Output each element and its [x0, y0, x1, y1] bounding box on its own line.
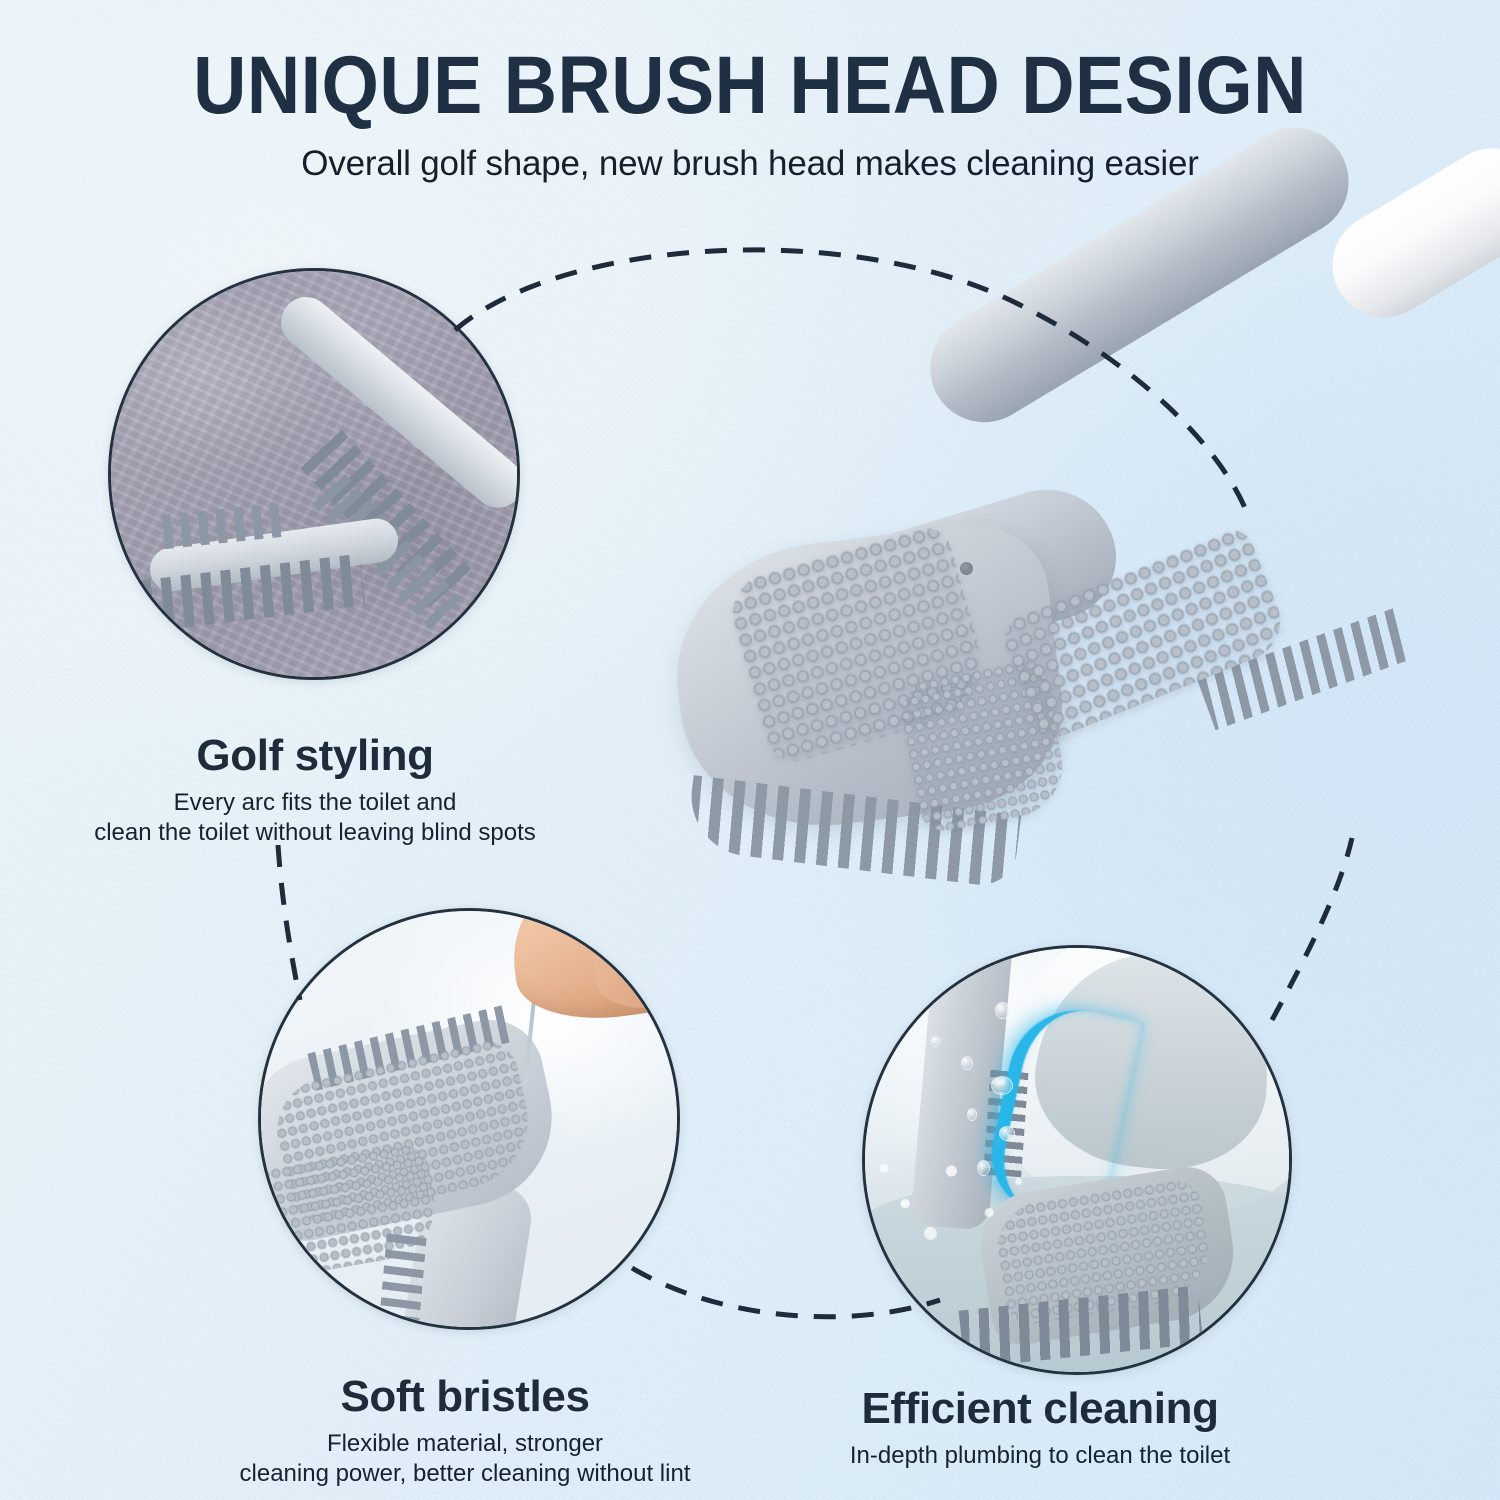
inset-efficient-cleaning — [862, 945, 1292, 1375]
golf-styling-brush — [111, 271, 517, 677]
feature-caption-soft-bristles: Soft bristles Flexible material, stronge… — [180, 1374, 750, 1490]
inset-golf-styling — [108, 268, 520, 680]
water-droplet — [995, 1002, 1010, 1019]
water-droplet — [961, 1056, 973, 1070]
feature-title: Efficient cleaning — [740, 1386, 1340, 1432]
feature-desc-line-2: clean the toilet without leaving blind s… — [55, 818, 575, 848]
hero-product-image — [640, 250, 1500, 910]
water-droplet — [999, 1126, 1015, 1141]
feature-title: Golf styling — [55, 733, 575, 779]
feature-desc-line-1: In-depth plumbing to clean the toilet — [740, 1441, 1340, 1471]
feature-caption-golf-styling: Golf styling Every arc fits the toilet a… — [55, 733, 575, 849]
water-splash — [862, 1132, 1069, 1262]
page-subtitle: Overall golf shape, new brush head makes… — [0, 144, 1500, 184]
feature-title: Soft bristles — [180, 1374, 750, 1420]
efficient-cleaning-scene — [865, 948, 1289, 1372]
water-droplet — [977, 1160, 990, 1176]
water-droplet — [931, 1036, 940, 1047]
water-droplet — [967, 1108, 977, 1121]
page-title: UNIQUE BRUSH HEAD DESIGN — [75, 44, 1425, 128]
feature-desc-line-2: cleaning power, better cleaning without … — [180, 1459, 750, 1489]
soft-bristles-scene — [261, 911, 677, 1327]
feature-desc-line-1: Every arc fits the toilet and — [55, 788, 575, 818]
feature-desc-line-1: Flexible material, stronger — [180, 1429, 750, 1459]
inset-soft-bristles — [258, 908, 680, 1330]
header: UNIQUE BRUSH HEAD DESIGN Overall golf sh… — [0, 0, 1500, 184]
hang-hole — [960, 562, 973, 575]
closeup-handle — [271, 287, 520, 518]
water-droplet — [991, 1076, 1013, 1095]
feature-caption-efficient-cleaning: Efficient cleaning In-depth plumbing to … — [740, 1386, 1340, 1471]
